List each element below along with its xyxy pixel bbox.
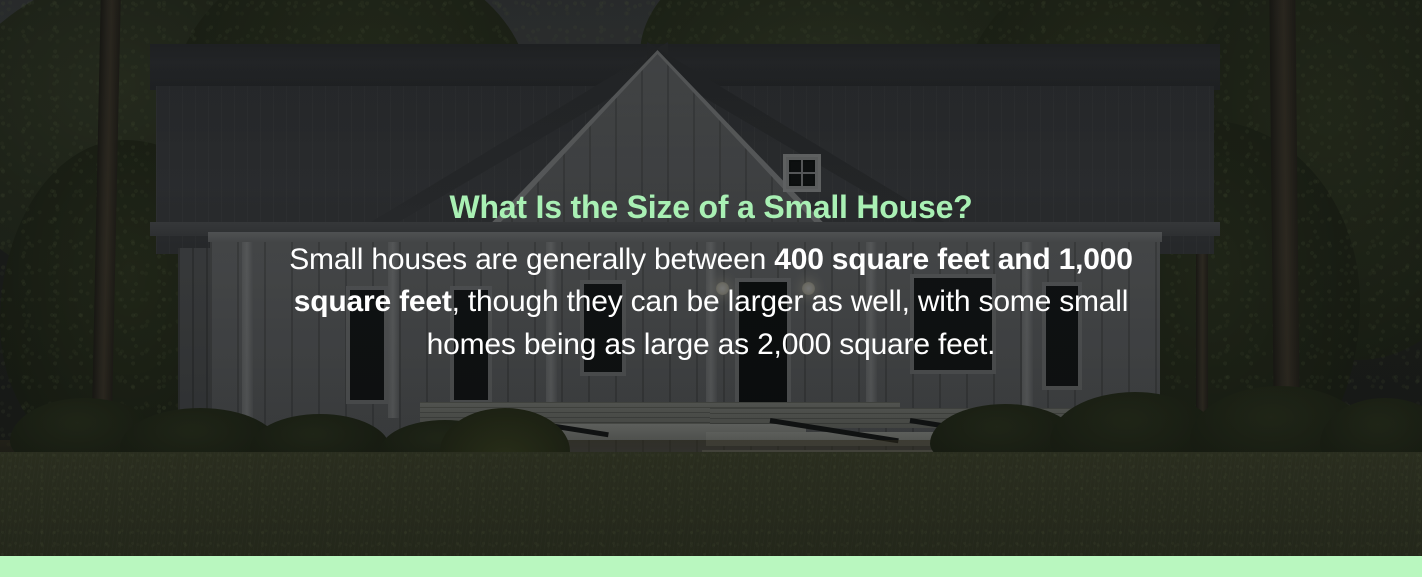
body-text-part2: , though they can be larger as well, wit… bbox=[427, 285, 1129, 360]
body-text-part1: Small houses are generally between bbox=[289, 243, 774, 276]
page-title: What Is the Size of a Small House? bbox=[449, 190, 972, 225]
body-paragraph: Small houses are generally between 400 s… bbox=[251, 239, 1171, 366]
bottom-accent-bar bbox=[0, 556, 1422, 577]
text-content: What Is the Size of a Small House? Small… bbox=[0, 0, 1422, 556]
small-house-info-banner: What Is the Size of a Small House? Small… bbox=[0, 0, 1422, 577]
